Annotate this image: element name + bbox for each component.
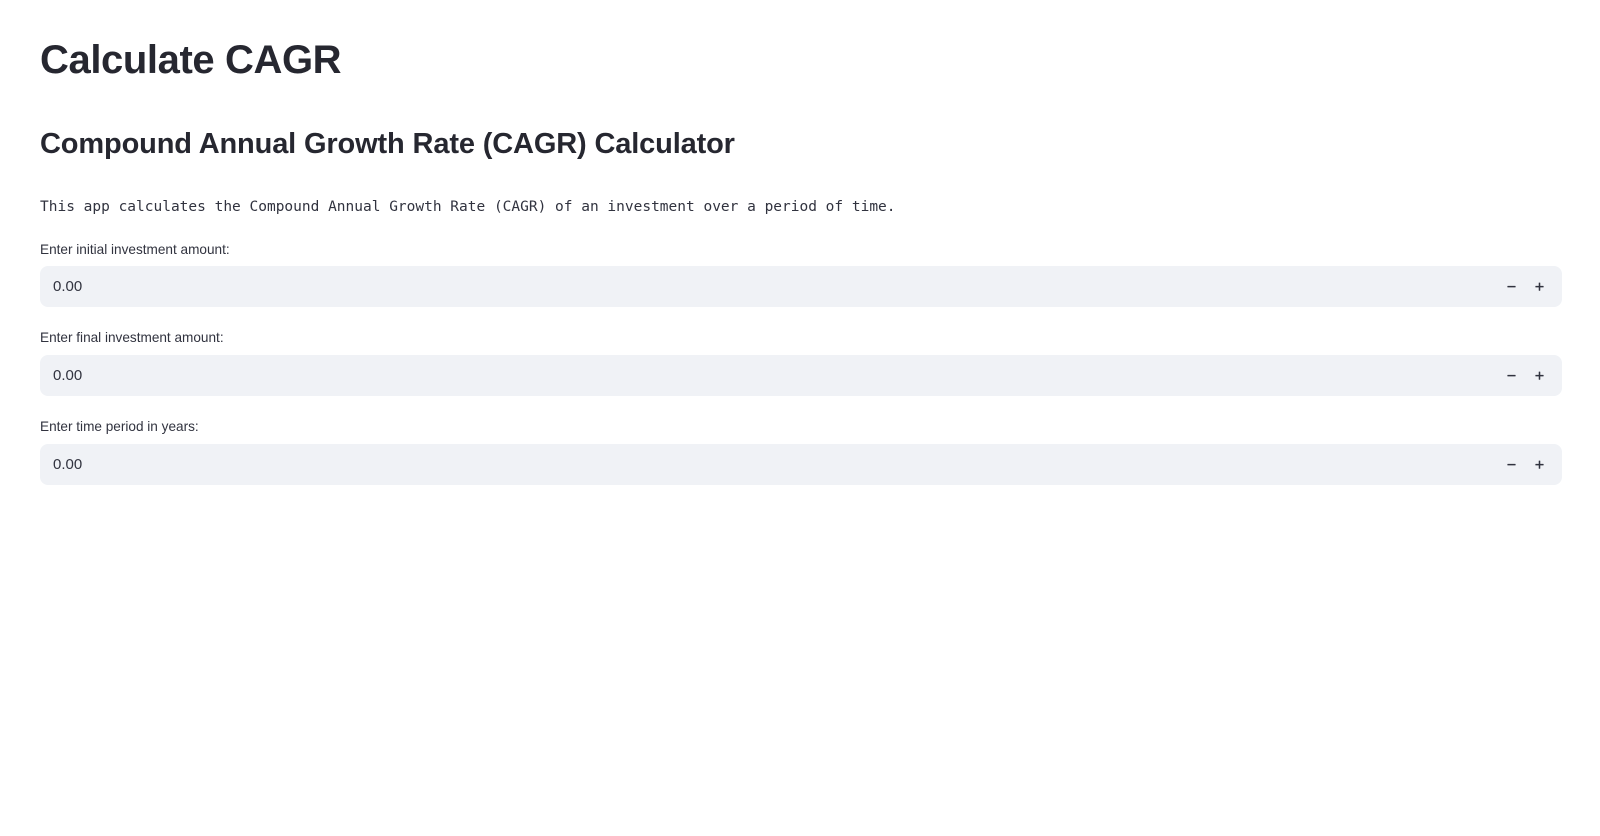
final-investment-input[interactable]	[41, 356, 1497, 395]
plus-icon	[1533, 280, 1546, 293]
plus-icon	[1533, 458, 1546, 471]
time-period-input[interactable]	[41, 445, 1497, 484]
field-label-initial-investment: Enter initial investment amount:	[40, 239, 1562, 261]
minus-icon	[1505, 280, 1518, 293]
stepper-group-time-period	[1497, 445, 1561, 484]
increment-icon-button-initial-investment[interactable]	[1525, 267, 1553, 306]
field-time-period: Enter time period in years:	[40, 416, 1562, 485]
app-description: This app calculates the Compound Annual …	[40, 196, 1562, 218]
decrement-icon-button-initial-investment[interactable]	[1497, 267, 1525, 306]
plus-icon	[1533, 369, 1546, 382]
increment-icon-button-final-investment[interactable]	[1525, 356, 1553, 395]
field-label-time-period: Enter time period in years:	[40, 416, 1562, 438]
number-input-final-investment[interactable]	[40, 355, 1562, 396]
number-input-initial-investment[interactable]	[40, 266, 1562, 307]
initial-investment-input[interactable]	[41, 267, 1497, 306]
field-label-final-investment: Enter final investment amount:	[40, 327, 1562, 349]
app-root: Calculate CAGR Compound Annual Growth Ra…	[0, 0, 1600, 836]
decrement-icon-button-final-investment[interactable]	[1497, 356, 1525, 395]
stepper-group-final-investment	[1497, 356, 1561, 395]
page-title: Calculate CAGR	[40, 32, 1562, 98]
decrement-icon-button-time-period[interactable]	[1497, 445, 1525, 484]
main-container: Calculate CAGR Compound Annual Growth Ra…	[0, 0, 1600, 805]
number-input-time-period[interactable]	[40, 444, 1562, 485]
stepper-group-initial-investment	[1497, 267, 1561, 306]
field-final-investment: Enter final investment amount:	[40, 327, 1562, 396]
minus-icon	[1505, 458, 1518, 471]
increment-icon-button-time-period[interactable]	[1525, 445, 1553, 484]
field-initial-investment: Enter initial investment amount:	[40, 239, 1562, 308]
bottom-spacer	[40, 485, 1562, 805]
section-heading: Compound Annual Growth Rate (CAGR) Calcu…	[40, 126, 1562, 162]
minus-icon	[1505, 369, 1518, 382]
